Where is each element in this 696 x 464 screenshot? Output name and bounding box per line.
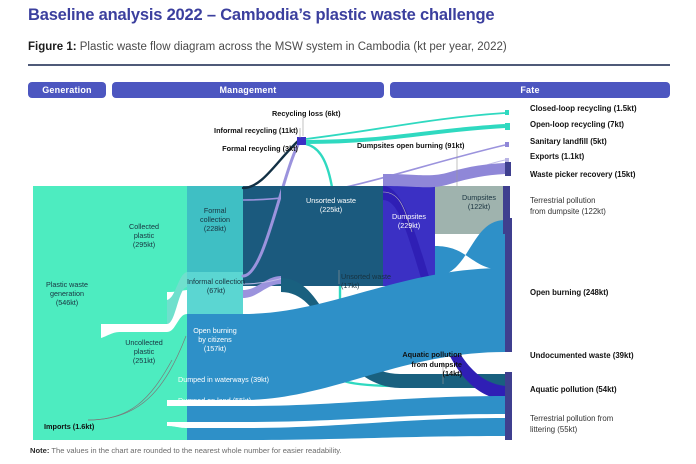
fate-label-waste-picker-recovery: Waste picker recovery (15kt) [530, 170, 635, 181]
fate-label-terrestrial-dumpsite-text: Terrestrial pollution from dumpsite (122… [530, 196, 606, 216]
fate-label-closed-loop-recycling: Closed-loop recycling (1.5kt) [530, 104, 637, 115]
endbar-exports [505, 158, 509, 162]
link-generation-collected [101, 186, 121, 324]
fate-label-undocumented-waste: Undocumented waste (39kt) [530, 351, 634, 362]
figure-note-text: The values in the chart are rounded to t… [49, 446, 341, 455]
node-open-burning-citizens [187, 314, 243, 400]
figure-caption: Figure 1: Plastic waste flow diagram acr… [28, 41, 507, 53]
callout-aquatic-from-dumpsite: Aquatic pollution from dumpsite (14kt) [372, 350, 462, 379]
fate-label-open-burning: Open burning (248kt) [530, 288, 608, 299]
fate-label-exports-text: Exports (1.1kt) [530, 152, 584, 161]
callout-informal-recycling-text: Informal recycling (11kt) [214, 126, 298, 135]
node-generation [33, 186, 101, 440]
fate-label-open-loop-recycling: Open-loop recycling (7kt) [530, 120, 624, 131]
page-title: Baseline analysis 2022 – Cambodia’s plas… [28, 6, 494, 25]
callout-recycling-loss: Recycling loss (6kt) [272, 109, 392, 119]
callout-imports: Imports (1.6kt) [44, 422, 154, 432]
link-uncollected-waterways [167, 406, 187, 422]
endbar-open-burning [505, 218, 512, 352]
fate-label-closed-loop-recycling-text: Closed-loop recycling (1.5kt) [530, 104, 637, 113]
node-dumped-land [187, 428, 243, 440]
figure-note: Note: The values in the chart are rounde… [30, 446, 342, 455]
callout-dumpsites-open-burning: Dumpsites open burning (91kt) [357, 141, 487, 151]
figure-caption-text: Plastic waste flow diagram across the MS… [77, 41, 507, 53]
fate-label-terrestrial-littering-text: Terrestrial pollution from littering (55… [530, 414, 613, 434]
callout-imports-text: Imports (1.6kt) [44, 422, 94, 431]
phase-bar-generation: Generation [28, 82, 106, 98]
fate-label-exports: Exports (1.1kt) [530, 152, 584, 163]
endbar-sanitary-landfill [505, 142, 509, 147]
figure-page: Baseline analysis 2022 – Cambodia’s plas… [0, 0, 696, 464]
fate-label-aquatic-pollution: Aquatic pollution (54kt) [530, 385, 617, 396]
fate-label-terrestrial-littering: Terrestrial pollution from littering (55… [530, 414, 613, 435]
callout-aquatic-from-dumpsite-text: Aquatic pollution from dumpsite (14kt) [402, 350, 462, 378]
link-uncollected-land [167, 426, 187, 440]
phase-bar-fate: Fate [390, 82, 670, 98]
fate-label-sanitary-landfill: Sanitary landfill (5kt) [530, 137, 607, 148]
node-collected-plastic [121, 186, 167, 324]
endbar-terrestrial-littering [505, 416, 512, 440]
link-waterways-aquatic [243, 396, 505, 422]
callout-recycling-loss-text: Recycling loss (6kt) [272, 109, 341, 118]
endbar-open-loop-recycling [505, 123, 510, 130]
phase-bar-management: Management [112, 82, 384, 98]
fate-label-terrestrial-dumpsite: Terrestrial pollution from dumpsite (122… [530, 196, 606, 217]
fate-label-sanitary-landfill-text: Sanitary landfill (5kt) [530, 137, 607, 146]
band-dumpsites-recovery [383, 163, 505, 187]
figure-note-prefix: Note: [30, 446, 49, 455]
callout-dumpsites-open-burning-text: Dumpsites open burning (91kt) [357, 141, 464, 150]
link-unsorted-dumpsites [381, 186, 383, 286]
fate-label-open-loop-recycling-text: Open-loop recycling (7kt) [530, 120, 624, 129]
node-recycling-hub [297, 137, 306, 145]
node-unsorted-waste [281, 186, 381, 286]
node-dumped-waterways [187, 406, 243, 422]
fate-label-open-burning-text: Open burning (248kt) [530, 288, 608, 297]
header-rule [28, 64, 670, 66]
endbar-waste-picker-recovery [505, 162, 511, 176]
endbar-aquatic-pollution [505, 384, 512, 416]
link-formal-unsorted [243, 186, 281, 286]
fate-label-aquatic-pollution-text: Aquatic pollution (54kt) [530, 385, 617, 394]
figure-label: Figure 1: [28, 41, 77, 53]
callout-formal-recycling-text: Formal recycling (3kt) [222, 144, 298, 153]
callout-informal-recycling: Informal recycling (11kt) [188, 126, 298, 136]
callout-formal-recycling: Formal recycling (3kt) [188, 144, 298, 154]
fate-label-waste-picker-recovery-text: Waste picker recovery (15kt) [530, 170, 635, 179]
endbar-closed-loop-recycling [505, 110, 509, 115]
link-recycling-openloop [306, 126, 505, 142]
fate-label-undocumented-waste-text: Undocumented waste (39kt) [530, 351, 634, 360]
node-informal-collection [187, 272, 243, 314]
